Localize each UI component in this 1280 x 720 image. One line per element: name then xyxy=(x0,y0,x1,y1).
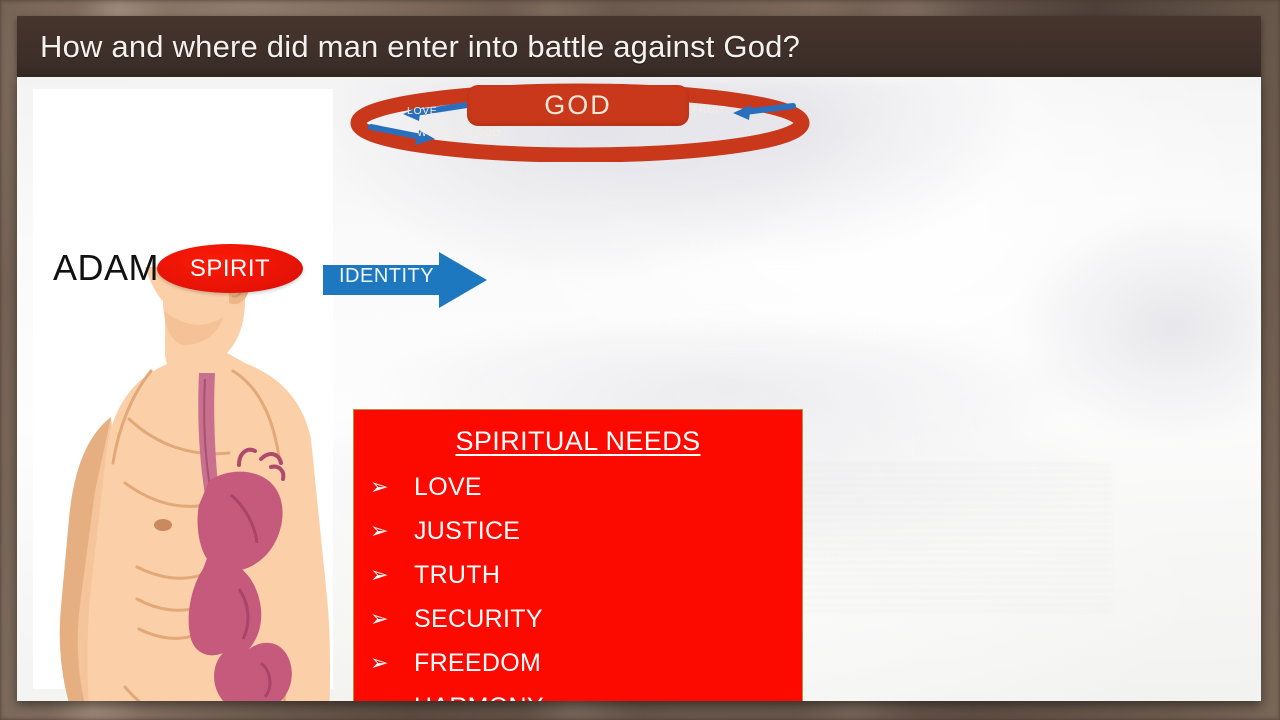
ring-label-fruit: FRUIT xyxy=(692,104,726,116)
list-item: ➢ HARMONY xyxy=(370,685,802,701)
list-item-label: LOVE xyxy=(414,473,482,502)
list-item-label: HARMONY xyxy=(414,693,544,702)
identity-label: IDENTITY xyxy=(339,265,434,288)
list-item-label: SECURITY xyxy=(414,605,543,634)
god-center-box: GOD xyxy=(467,85,689,126)
slide-canvas: GOD LOVE WORD OF GOD FRUIT ADAM SPIRIT I… xyxy=(17,77,1261,701)
slide-title-bar: How and where did man enter into battle … xyxy=(17,16,1261,77)
spiritual-needs-panel: SPIRITUAL NEEDS ➢ LOVE ➢ JUSTICE ➢ TRUTH… xyxy=(353,409,803,701)
list-item: ➢ SECURITY xyxy=(370,597,802,641)
list-item: ➢ TRUTH xyxy=(370,553,802,597)
list-item: ➢ FREEDOM xyxy=(370,641,802,685)
anatomy-figure xyxy=(33,267,343,701)
god-diagram: GOD LOVE WORD OF GOD FRUIT xyxy=(345,82,815,162)
arrowhead-bullet-icon: ➢ xyxy=(370,696,414,701)
spiritual-needs-title: SPIRITUAL NEEDS xyxy=(354,426,802,457)
list-item-label: TRUTH xyxy=(414,561,500,590)
arrowhead-bullet-icon: ➢ xyxy=(370,564,414,586)
list-item-label: JUSTICE xyxy=(414,517,520,546)
ring-label-word-of-god: WORD OF GOD xyxy=(417,127,501,139)
arrowhead-bullet-icon: ➢ xyxy=(370,652,414,674)
list-item-label: FREEDOM xyxy=(414,649,541,678)
arrowhead-bullet-icon: ➢ xyxy=(370,520,414,542)
god-label: GOD xyxy=(544,90,612,121)
ring-label-love: LOVE xyxy=(407,105,437,117)
spirit-ellipse: SPIRIT xyxy=(157,244,303,293)
arrowhead-bullet-icon: ➢ xyxy=(370,608,414,630)
adam-label: ADAM xyxy=(53,247,159,289)
spiritual-needs-list: ➢ LOVE ➢ JUSTICE ➢ TRUTH ➢ SECURITY ➢ FR… xyxy=(354,465,802,701)
arrowhead-bullet-icon: ➢ xyxy=(370,476,414,498)
list-item: ➢ LOVE xyxy=(370,465,802,509)
nipple xyxy=(154,519,172,531)
page-title: How and where did man enter into battle … xyxy=(17,29,800,65)
list-item: ➢ JUSTICE xyxy=(370,509,802,553)
spirit-label: SPIRIT xyxy=(190,255,270,283)
